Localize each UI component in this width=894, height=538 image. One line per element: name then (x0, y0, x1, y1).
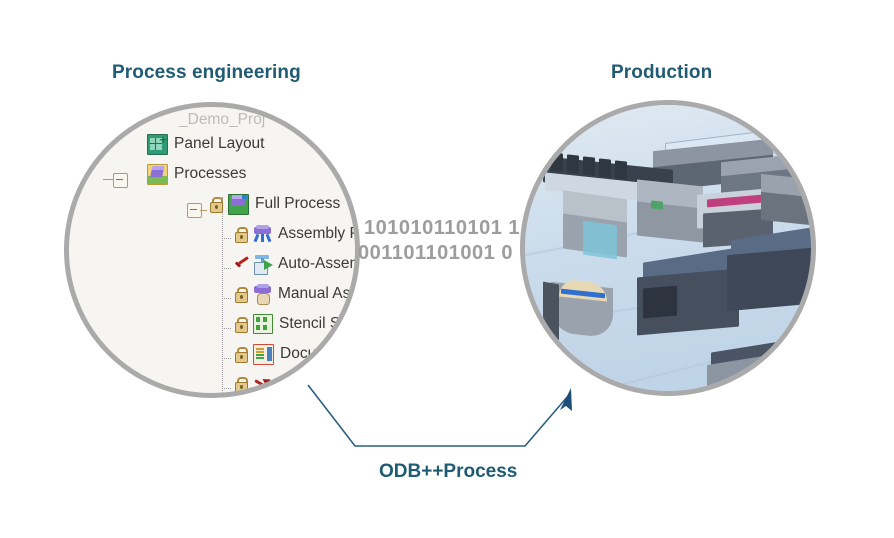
front-machine-panel (643, 286, 677, 319)
page-title-production: Production (611, 62, 712, 84)
machine-status-light (651, 200, 663, 209)
diagram-canvas: Process engineering Production _Demo_Pro… (0, 0, 894, 538)
test-probe-icon (253, 375, 272, 394)
documentation-icon (253, 344, 274, 365)
tree-item-label: Processes (174, 165, 246, 183)
placement-machine (637, 180, 703, 243)
binary-stream-line-2: 001101101001 0 (358, 242, 513, 265)
tree-tick (222, 358, 231, 359)
tree-item-label: Auto-Assembly (MS (278, 255, 360, 273)
red-check-icon (234, 257, 249, 271)
feeder-reel (615, 160, 627, 179)
tree-item-label: Assembly Plan (278, 225, 360, 243)
tree-item-test-probe[interactable]: Test Prob (234, 371, 343, 397)
project-tree[interactable]: _Demo_Proj + Panel Layout Processes Full… (69, 107, 360, 398)
tree-item-demo-proj[interactable]: _Demo_Proj (173, 107, 265, 133)
production-circle (520, 100, 816, 396)
lock-icon (234, 377, 247, 391)
tree-item-manual-assembly[interactable]: Manual Assembly (234, 281, 360, 307)
lock-icon (234, 347, 247, 361)
feeder-reel (599, 158, 611, 177)
tree-tick (222, 388, 231, 389)
tree-expand-stub-2 (200, 210, 207, 211)
assembly-plan-icon (253, 225, 272, 244)
connector-path (308, 385, 568, 446)
tree-item-stencil-session[interactable]: Stencil Session (234, 311, 360, 337)
tree-item-label: Full Process (255, 195, 340, 213)
tree-item-label: _Demo_Proj (179, 111, 265, 129)
arrowhead-icon (560, 388, 572, 411)
tree-item-label: Manual Assembly (278, 285, 360, 303)
lock-icon (234, 317, 247, 331)
front-machine-body-2 (727, 247, 816, 311)
tree-item-processes[interactable]: Processes (147, 161, 246, 187)
tree-item-panel-layout[interactable]: + Panel Layout (147, 131, 265, 157)
tree-item-label: Stencil Session (279, 315, 360, 333)
feeder-reel (583, 156, 595, 175)
page-title-process-engineering: Process engineering (112, 62, 301, 84)
binary-stream-line-1: 101010110101 1 (364, 217, 520, 240)
tree-item-label: Documentatio (280, 345, 360, 363)
tree-tick (222, 328, 231, 329)
manual-assembly-icon (253, 285, 272, 304)
tree-tick (222, 298, 231, 299)
tree-item-assembly-plan[interactable]: Assembly Plan (234, 221, 360, 247)
tree-item-full-process[interactable]: Full Process (209, 191, 340, 217)
lock-icon (209, 197, 222, 211)
tree-item-label: Test Prob (278, 375, 343, 393)
full-process-icon (228, 194, 249, 215)
production-line-render (525, 105, 811, 391)
process-engineering-circle: _Demo_Proj + Panel Layout Processes Full… (64, 102, 360, 398)
auto-assembly-icon (253, 255, 272, 274)
tree-expand-stub (103, 179, 113, 180)
inspection-machine (761, 174, 816, 226)
lock-icon (234, 287, 247, 301)
panel-layout-icon: + (147, 134, 168, 155)
stencil-session-icon (253, 314, 273, 334)
lock-icon (234, 227, 247, 241)
tree-expand-processes[interactable] (113, 173, 128, 188)
tree-tick (222, 238, 231, 239)
tree-item-label: Panel Layout (174, 135, 265, 153)
connector-label: ODB++Process (379, 461, 517, 483)
feeder-reel (567, 154, 579, 173)
tree-trunk-line (222, 197, 223, 395)
tree-tick (222, 268, 231, 269)
round-unit-side (543, 282, 559, 341)
tree-item-auto-assembly[interactable]: Auto-Assembly (MS (234, 251, 360, 277)
tree-item-documentation[interactable]: Documentatio (234, 341, 360, 367)
feeder-reel (551, 152, 563, 171)
processes-icon (147, 164, 168, 185)
machine-window (583, 221, 617, 260)
